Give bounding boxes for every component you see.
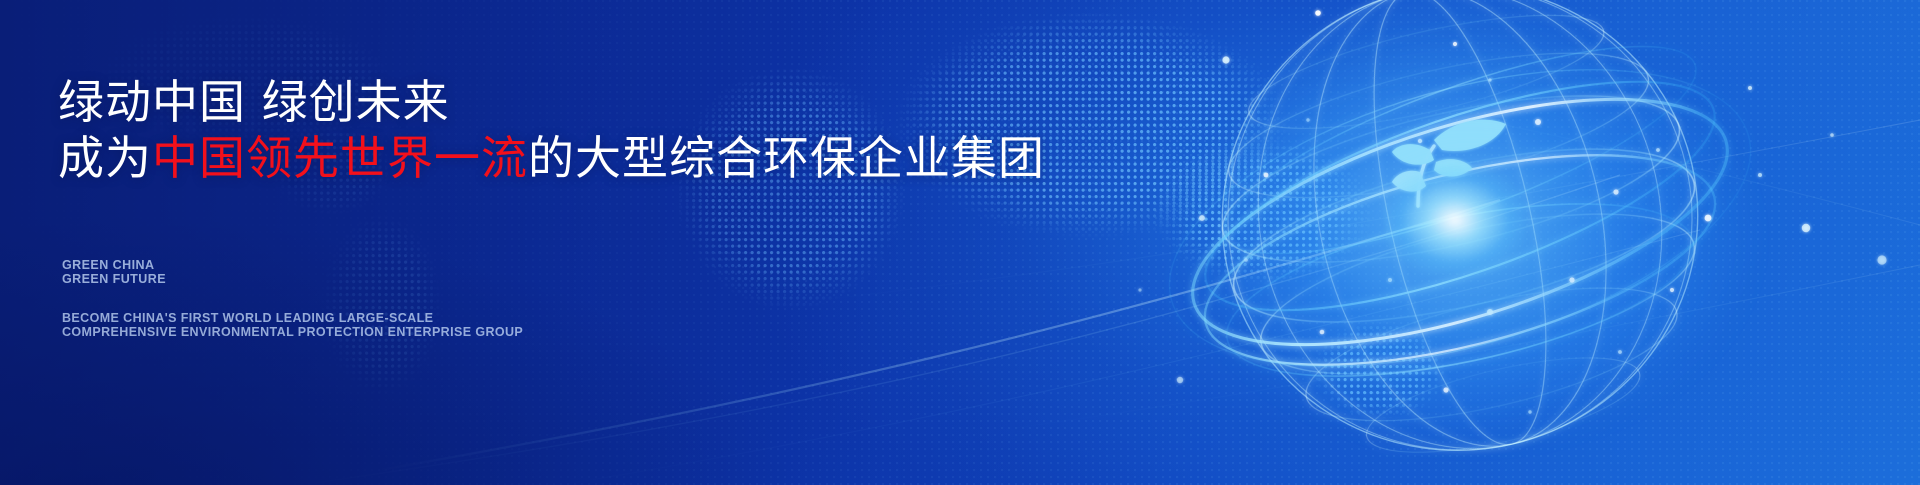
tagline-line-1: GREEN CHINA [62, 258, 166, 272]
globe-core-flare [1385, 165, 1525, 275]
page-title: 绿动中国 绿创未来 成为中国领先世界一流的大型综合环保企业集团 [58, 74, 1058, 186]
headline-line-2-highlight: 中国领先世界一流 [152, 131, 528, 185]
continent-southeast-asia [1120, 120, 1420, 310]
hero-banner: 绿动中国 绿创未来 成为中国领先世界一流的大型综合环保企业集团 GREEN CH… [0, 0, 1920, 485]
sprout-icon [1392, 120, 1506, 206]
continent-australia [1285, 300, 1475, 440]
wireframe-globe [1060, 0, 1920, 485]
globe-orbit-rings [1136, 6, 1783, 423]
globe-glow [1170, 20, 1770, 460]
subline: BECOME CHINA'S FIRST WORLD LEADING LARGE… [62, 311, 523, 339]
tagline-line-2: GREEN FUTURE [62, 272, 166, 286]
globe-wireframe-svg [1060, 0, 1920, 485]
banner-copy: 绿动中国 绿创未来 成为中国领先世界一流的大型综合环保企业集团 GREEN CH… [58, 0, 1058, 485]
globe-particles [1138, 0, 1886, 414]
subline-line-2: COMPREHENSIVE ENVIRONMENTAL PROTECTION E… [62, 325, 523, 339]
headline-line-1: 绿动中国 绿创未来 [58, 74, 1058, 130]
globe-sphere [1176, 0, 1744, 485]
tagline: GREEN CHINA GREEN FUTURE [62, 258, 166, 286]
subline-line-1: BECOME CHINA'S FIRST WORLD LEADING LARGE… [62, 311, 523, 325]
headline-line-2-prefix: 成为 [58, 131, 152, 185]
headline-line-2-suffix: 的大型综合环保企业集团 [528, 131, 1045, 185]
headline-line-2: 成为中国领先世界一流的大型综合环保企业集团 [58, 130, 1058, 186]
